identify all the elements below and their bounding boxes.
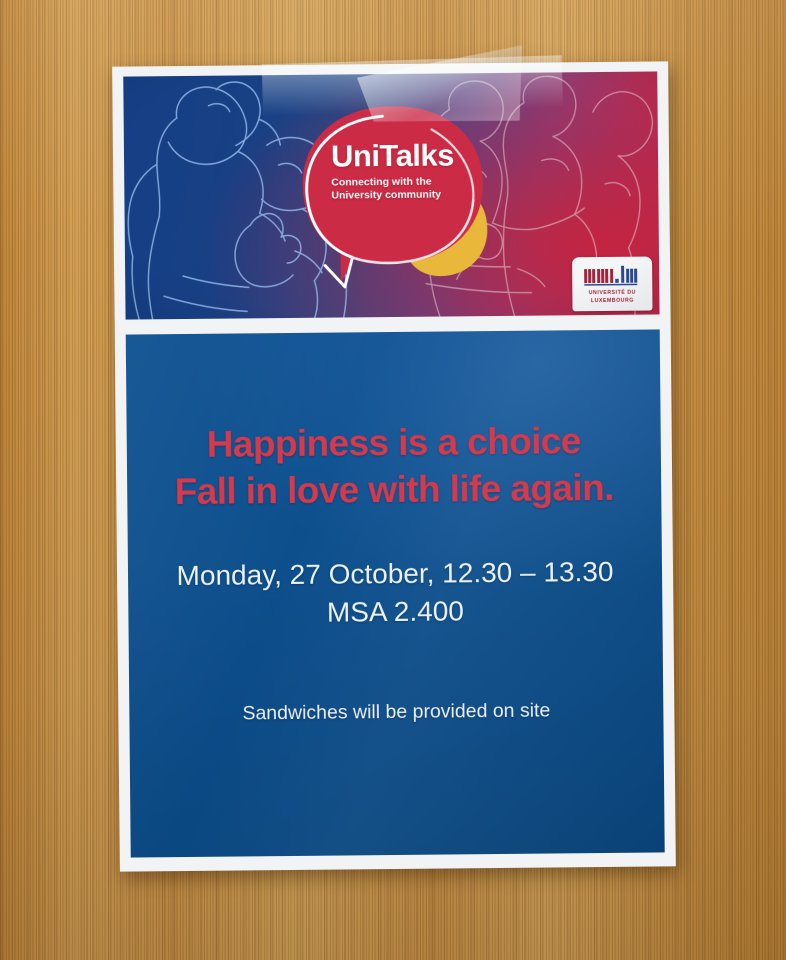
unitalks-logo-bubble <box>278 87 515 318</box>
event-poster: UniTalks Connecting with the University … <box>112 61 676 871</box>
unitalks-tagline-line2: University community <box>331 189 451 203</box>
uni-lu-caption-line2: LUXEMBOURG <box>589 297 636 304</box>
uni-lu-caption: UNIVERSITÉ DU LUXEMBOURG <box>589 290 636 304</box>
unitalks-title: UniTalks <box>331 140 451 172</box>
poster-body-panel: Happiness is a choice Fall in love with … <box>126 329 665 857</box>
unitalks-tagline-line1: Connecting with the <box>331 175 451 189</box>
poster-datetime: Monday, 27 October, 12.30 – 13.30 <box>176 555 613 593</box>
uni-lu-logo: UNIVERSITÉ DU LUXEMBOURG <box>572 257 653 312</box>
panel-sheen <box>126 329 665 857</box>
unitalks-tagline: Connecting with the University community <box>331 175 451 202</box>
uni-lu-caption-line1: UNIVERSITÉ DU <box>589 290 636 297</box>
poster-content: UniTalks Connecting with the University … <box>123 71 664 857</box>
poster-headline-line2: Fall in love with life again. <box>175 467 614 513</box>
uni-lu-logo-mark <box>583 266 641 288</box>
poster-headline-line1: Happiness is a choice <box>207 420 581 465</box>
poster-room: MSA 2.400 <box>327 594 464 629</box>
poster-header-banner: UniTalks Connecting with the University … <box>123 71 659 319</box>
poster-paper: UniTalks Connecting with the University … <box>112 61 676 871</box>
unitalks-wordmark: UniTalks Connecting with the University … <box>331 140 452 203</box>
poster-footnote: Sandwiches will be provided on site <box>242 700 550 726</box>
